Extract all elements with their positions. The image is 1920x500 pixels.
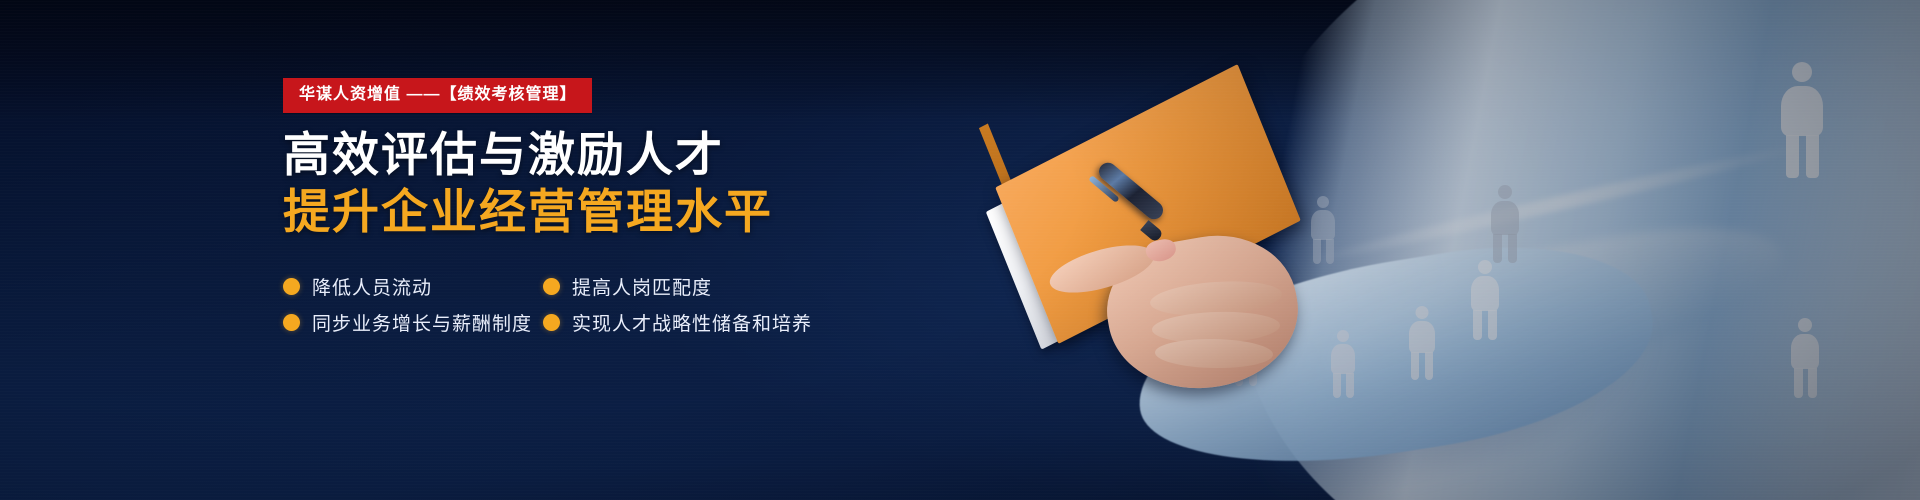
list-item: 实现人才战略性储备和培养 <box>543 305 1043 341</box>
list-item-label: 降低人员流动 <box>312 273 432 300</box>
promo-banner: 华谋人资增值 ——【绩效考核管理】 高效评估与激励人才 提升企业经营管理水平 降… <box>0 0 1920 500</box>
list-item-label: 实现人才战略性储备和培养 <box>572 309 812 336</box>
list-item: 降低人员流动 <box>283 269 543 305</box>
bullet-dot-icon <box>283 278 300 295</box>
list-item: 提高人岗匹配度 <box>543 269 1043 305</box>
bullet-dot-icon <box>543 314 560 331</box>
list-item: 同步业务增长与薪酬制度 <box>283 305 543 341</box>
copy-block: 华谋人资增值 ——【绩效考核管理】 高效评估与激励人才 提升企业经营管理水平 降… <box>283 78 1043 341</box>
headline-primary: 高效评估与激励人才 <box>283 131 1043 180</box>
headline-secondary: 提升企业经营管理水平 <box>283 188 1043 237</box>
bullet-dot-icon <box>543 278 560 295</box>
benefit-list: 降低人员流动 提高人岗匹配度 同步业务增长与薪酬制度 实现人才战略性储备和培养 <box>283 269 1043 341</box>
list-item-label: 提高人岗匹配度 <box>572 273 712 300</box>
list-item-label: 同步业务增长与薪酬制度 <box>312 309 532 336</box>
category-badge: 华谋人资增值 ——【绩效考核管理】 <box>283 78 592 113</box>
bullet-dot-icon <box>283 314 300 331</box>
